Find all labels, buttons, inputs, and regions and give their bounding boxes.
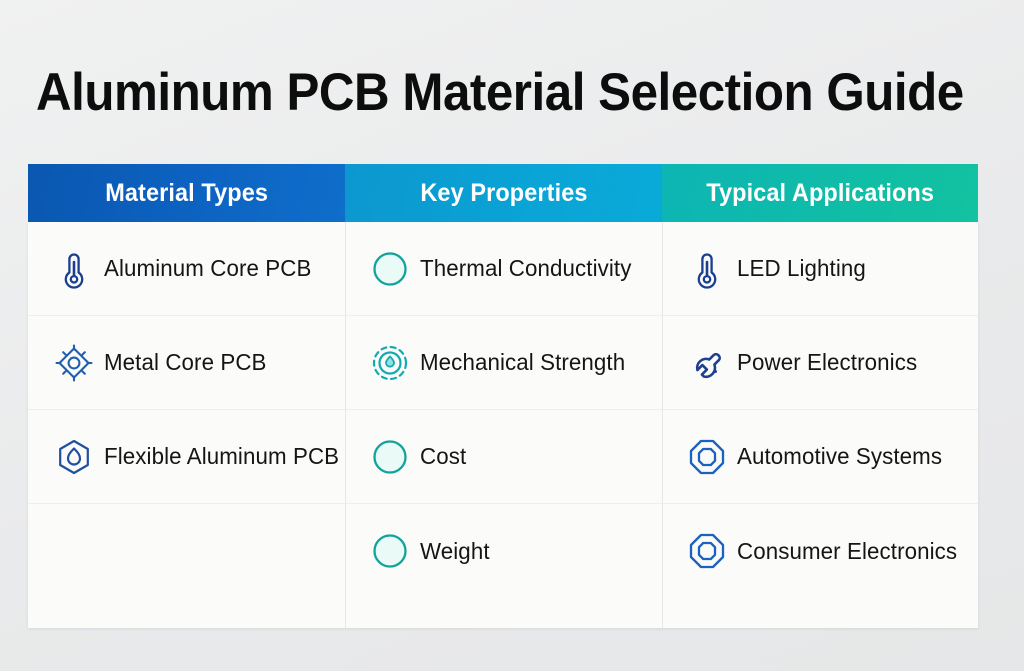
table-cell-label: Mechanical Strength xyxy=(420,349,625,376)
table-cell-label: Automotive Systems xyxy=(737,443,942,470)
thermometer-icon xyxy=(685,247,729,291)
table-cell-label: Consumer Electronics xyxy=(737,538,957,565)
octagon-icon xyxy=(685,529,729,573)
table-row: Cost xyxy=(346,410,662,504)
table-header-typical-applications: Typical Applications xyxy=(662,164,978,222)
table-row: Aluminum Core PCB xyxy=(28,222,345,316)
table-header-key-properties-label: Key Properties xyxy=(420,179,587,208)
table-cell-label: Power Electronics xyxy=(737,349,917,376)
table-row: LED Lighting xyxy=(663,222,978,316)
table-row-empty xyxy=(28,504,345,598)
table-header-material-types: Material Types xyxy=(28,164,345,222)
table-column-key-properties: Thermal Conductivity Mechanical Strength xyxy=(345,222,662,628)
table-row: Automotive Systems xyxy=(663,410,978,504)
table-cell-label: LED Lighting xyxy=(737,255,866,282)
table-cell-label: Weight xyxy=(420,538,490,565)
table-cell-label: Metal Core PCB xyxy=(104,349,267,376)
table-body: Aluminum Core PCB Metal Core PCB xyxy=(28,222,978,628)
table-header-key-properties: Key Properties xyxy=(345,164,662,222)
table-header-typical-applications-label: Typical Applications xyxy=(706,179,934,208)
table-cell-label: Thermal Conductivity xyxy=(420,255,631,282)
infographic-root: Aluminum PCB Material Selection Guide Ma… xyxy=(0,0,1024,671)
table-row: Power Electronics xyxy=(663,316,978,410)
table-cell-label: Flexible Aluminum PCB xyxy=(104,443,339,470)
table-row: Flexible Aluminum PCB xyxy=(28,410,345,504)
page-title: Aluminum PCB Material Selection Guide xyxy=(36,62,921,124)
circle-icon xyxy=(368,529,412,573)
octagon-icon xyxy=(685,435,729,479)
thermometer-icon xyxy=(52,247,96,291)
table-header-material-types-label: Material Types xyxy=(105,179,268,208)
table-row: Metal Core PCB xyxy=(28,316,345,410)
table-cell-label: Cost xyxy=(420,443,466,470)
metal-core-diamond-icon xyxy=(52,341,96,385)
table-column-typical-applications: LED Lighting Power Electronics xyxy=(662,222,978,628)
table-row: Weight xyxy=(346,504,662,598)
table-row: Thermal Conductivity xyxy=(346,222,662,316)
circle-icon xyxy=(368,247,412,291)
circle-icon xyxy=(368,435,412,479)
hexagon-flex-icon xyxy=(52,435,96,479)
table-column-material-types: Aluminum Core PCB Metal Core PCB xyxy=(28,222,345,628)
table-header-row: Material Types Key Properties Typical Ap… xyxy=(28,164,978,222)
table-row: Consumer Electronics xyxy=(663,504,978,598)
table-cell-label: Aluminum Core PCB xyxy=(104,255,311,282)
wrench-icon xyxy=(685,341,729,385)
table-row: Mechanical Strength xyxy=(346,316,662,410)
material-selection-table: Material Types Key Properties Typical Ap… xyxy=(28,164,978,628)
gear-target-icon xyxy=(368,341,412,385)
